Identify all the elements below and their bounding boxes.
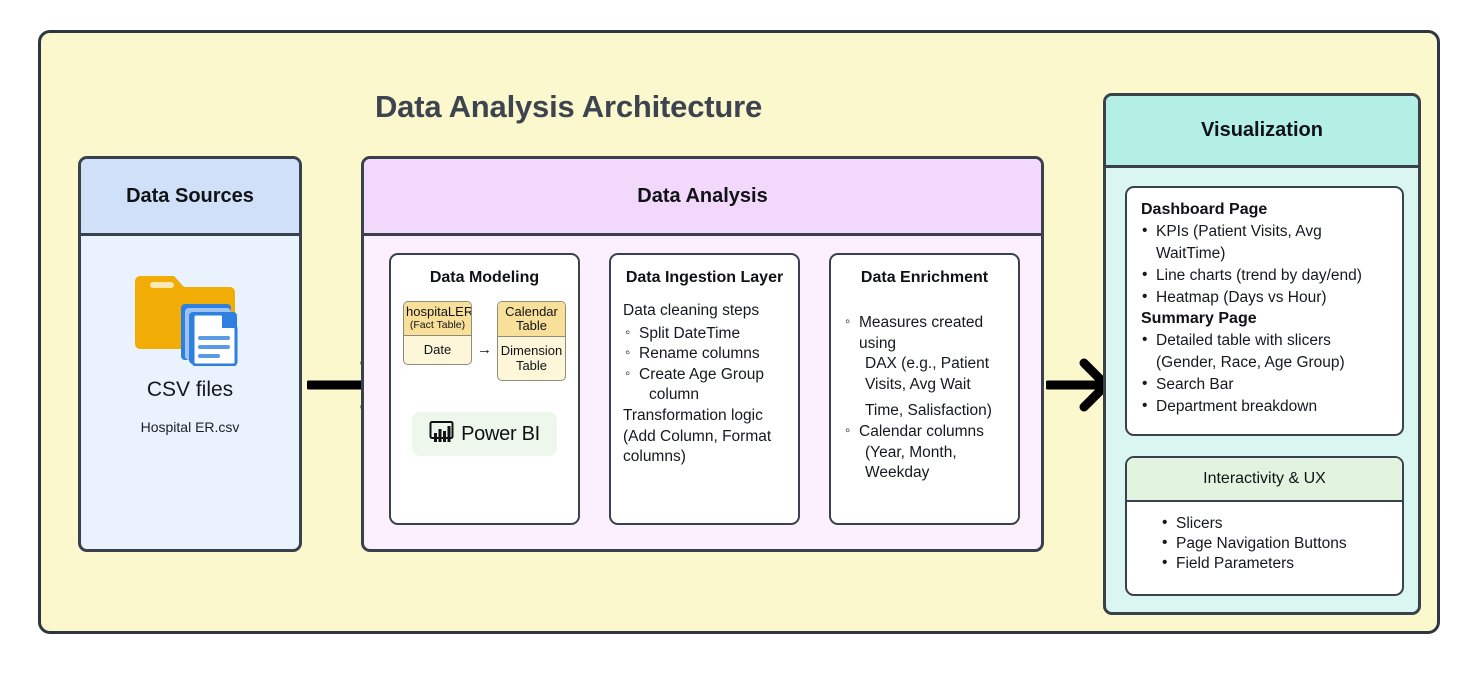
dimension-table-header: Calendar Table [498, 302, 565, 337]
enrichment-continuation-1: DAX (e.g., Patient Visits, Avg Wait [843, 354, 1006, 395]
csv-files-label: CSV files [81, 378, 299, 402]
enrichment-continuation-2: Time, Salisfaction) [843, 401, 1006, 422]
list-item: Field Parameters [1161, 554, 1402, 574]
panel-data-sources: Data Sources CSV files Hospital ER.csv [78, 156, 302, 552]
card-data-modeling: Data Modeling hospitaLER (Fact Table) Da… [389, 253, 580, 525]
diagram-canvas: Data Analysis Architecture Data Sources [38, 30, 1440, 634]
data-sources-body: CSV files Hospital ER.csv [81, 236, 299, 552]
dashboard-page-heading: Dashboard Page [1141, 201, 1388, 219]
list-item: Rename columns [623, 344, 786, 365]
fact-table: hospitaLER (Fact Table) Date [403, 301, 472, 365]
list-item: KPIs (Patient Visits, Avg WaitTime) [1141, 221, 1388, 265]
summary-bullets: Detailed table with slicers (Gender, Rac… [1141, 330, 1388, 418]
interactivity-bullets: Slicers Page Navigation Buttons Field Pa… [1161, 514, 1402, 574]
list-item: Measures created using [843, 313, 1006, 354]
data-model-tables: hospitaLER (Fact Table) Date → Calendar … [403, 301, 566, 398]
fact-table-name: hospitaLER [406, 305, 469, 319]
dimension-table-name: Calendar Table [500, 305, 563, 332]
enrichment-continuation-3: (Year, Month, Weekday [843, 443, 1006, 484]
page-title: Data Analysis Architecture [41, 89, 1096, 125]
ingestion-bullet-continuation: column [623, 385, 786, 406]
power-bi-label: Power BI [461, 423, 540, 446]
panel-data-analysis: Data Analysis Data Modeling hospitaLER (… [361, 156, 1044, 552]
csv-file-name: Hospital ER.csv [81, 419, 299, 435]
data-modeling-title: Data Modeling [403, 269, 566, 287]
list-item: Detailed table with slicers (Gender, Rac… [1141, 330, 1388, 374]
ingestion-lead: Data cleaning steps [623, 301, 786, 322]
card-interactivity-ux: Interactivity & UX Slicers Page Navigati… [1125, 456, 1404, 596]
power-bi-icon [429, 419, 454, 450]
list-item: Create Age Group [623, 365, 786, 386]
list-item: Page Navigation Buttons [1161, 534, 1402, 554]
list-item: Slicers [1161, 514, 1402, 534]
dimension-table: Calendar Table Dimension Table [497, 301, 566, 381]
visualization-body: Dashboard Page KPIs (Patient Visits, Avg… [1106, 168, 1418, 615]
fact-table-header: hospitaLER (Fact Table) [404, 302, 471, 336]
csv-folder-icon [134, 262, 246, 371]
fact-table-row: Date [404, 336, 471, 364]
data-analysis-header: Data Analysis [364, 159, 1041, 236]
list-item: Heatmap (Days vs Hour) [1141, 287, 1388, 309]
visualization-header: Visualization [1106, 96, 1418, 168]
list-item: Search Bar [1141, 374, 1388, 396]
fact-table-subtitle: (Fact Table) [406, 319, 469, 331]
list-item: Calendar columns [843, 422, 1006, 443]
interactivity-title: Interactivity & UX [1127, 458, 1402, 502]
ingestion-footer: Transformation logic (Add Column, Format… [623, 406, 786, 468]
card-data-enrichment: Data Enrichment Measures created using D… [829, 253, 1020, 525]
enrichment-bullets: Measures created using [843, 313, 1006, 354]
relationship-arrow-icon: → [477, 342, 492, 357]
power-bi-badge: Power BI [412, 412, 557, 456]
data-analysis-body: Data Modeling hospitaLER (Fact Table) Da… [364, 236, 1041, 552]
interactivity-body: Slicers Page Navigation Buttons Field Pa… [1127, 502, 1402, 574]
card-dashboard-pages: Dashboard Page KPIs (Patient Visits, Avg… [1125, 186, 1404, 436]
data-ingestion-title: Data Ingestion Layer [623, 269, 786, 287]
panel-visualization: Visualization Dashboard Page KPIs (Patie… [1103, 93, 1421, 615]
card-data-ingestion: Data Ingestion Layer Data cleaning steps… [609, 253, 800, 525]
dimension-table-row: Dimension Table [498, 337, 565, 380]
data-enrichment-title: Data Enrichment [843, 269, 1006, 287]
list-item: Split DateTime [623, 324, 786, 345]
list-item: Department breakdown [1141, 396, 1388, 418]
ingestion-bullets: Split DateTime Rename columns Create Age… [623, 324, 786, 386]
data-sources-header: Data Sources [81, 159, 299, 236]
list-item: Line charts (trend by day/end) [1141, 265, 1388, 287]
dashboard-bullets: KPIs (Patient Visits, Avg WaitTime) Line… [1141, 221, 1388, 309]
summary-page-heading: Summary Page [1141, 310, 1388, 328]
enrichment-bullets-2: Calendar columns [843, 422, 1006, 443]
